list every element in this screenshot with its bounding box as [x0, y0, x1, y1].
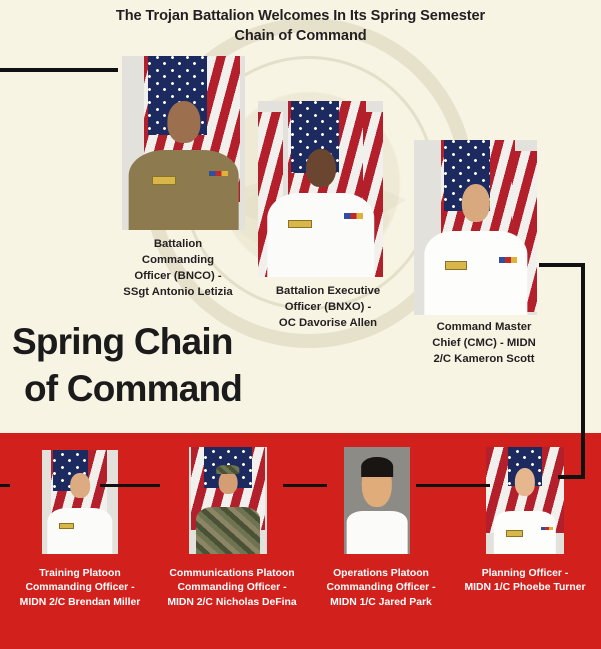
- connector-line-right-top: [539, 263, 585, 267]
- caption-cmc-line-3: 2/C Kameron Scott: [432, 351, 536, 367]
- portrait-bnxo: [258, 101, 383, 277]
- photo-card-bnco: [122, 56, 245, 230]
- portrait-plo: [486, 447, 564, 554]
- caption-bnxo-line-1: Battalion Executive: [276, 283, 380, 299]
- caption-cpco-line-2: Commanding Officer -: [167, 581, 296, 595]
- caption-bnxo-line-3: OC Davorise Allen: [276, 315, 380, 331]
- caption-bnco-line-3: Officer (BNCO) -: [123, 268, 232, 284]
- connector-line-bottom-b: [283, 484, 327, 487]
- connector-line-bottom-c: [416, 484, 490, 487]
- big-title-line-1: Spring Chain: [12, 321, 233, 362]
- chain-of-command-poster: ★ The Trojan Battalion Welcomes In Its S…: [0, 0, 601, 649]
- caption-opco-line-3: MIDN 1/C Jared Park: [326, 596, 435, 610]
- connector-line-top-left: [0, 68, 118, 72]
- photo-card-tpco: [42, 450, 118, 554]
- portrait-tpco: [42, 450, 118, 554]
- caption-tpco-line-2: Commanding Officer -: [20, 581, 141, 595]
- caption-bnco-line-4: SSgt Antonio Letizia: [123, 284, 232, 300]
- connector-line-right-vertical: [581, 263, 585, 479]
- caption-cpco-line-1: Communications Platoon: [167, 567, 296, 581]
- caption-tpco-line-1: Training Platoon: [20, 567, 141, 581]
- connector-line-right-bottom: [558, 475, 585, 479]
- photo-card-bnxo: [258, 101, 383, 277]
- portrait-opco: [344, 447, 410, 554]
- caption-opco-line-2: Commanding Officer -: [326, 581, 435, 595]
- portrait-cpco: [189, 447, 267, 554]
- photo-card-opco: [344, 447, 410, 554]
- caption-tpco: Training Platoon Commanding Officer - MI…: [20, 567, 141, 610]
- portrait-cmc: [414, 140, 537, 315]
- caption-plo-line-1: Planning Officer -: [464, 567, 585, 581]
- caption-bnxo-line-2: Officer (BNXO) -: [276, 299, 380, 315]
- caption-cpco: Communications Platoon Commanding Office…: [167, 567, 296, 610]
- big-title-line-2: of Command: [12, 365, 312, 412]
- caption-cmc-line-1: Command Master: [432, 319, 536, 335]
- caption-bnco-line-1: Battalion: [123, 236, 232, 252]
- caption-bnco: Battalion Commanding Officer (BNCO) - SS…: [123, 236, 232, 300]
- caption-opco: Operations Platoon Commanding Officer - …: [326, 567, 435, 610]
- caption-bnxo: Battalion Executive Officer (BNXO) - OC …: [276, 283, 380, 331]
- caption-tpco-line-3: MIDN 2/C Brendan Miller: [20, 596, 141, 610]
- heading-line-2: Chain of Command: [0, 26, 601, 46]
- caption-opco-line-1: Operations Platoon: [326, 567, 435, 581]
- photo-card-cmc: [414, 140, 537, 315]
- poster-big-title: Spring Chain of Command: [12, 318, 312, 412]
- caption-cpco-line-3: MIDN 2/C Nicholas DeFina: [167, 596, 296, 610]
- portrait-bnco: [122, 56, 245, 230]
- photo-card-cpco: [189, 447, 267, 554]
- heading-line-1: The Trojan Battalion Welcomes In Its Spr…: [116, 8, 485, 24]
- caption-cmc: Command Master Chief (CMC) - MIDN 2/C Ka…: [432, 319, 536, 367]
- caption-bnco-line-2: Commanding: [123, 252, 232, 268]
- poster-heading: The Trojan Battalion Welcomes In Its Spr…: [0, 0, 601, 46]
- caption-plo-line-2: MIDN 1/C Phoebe Turner: [464, 581, 585, 595]
- caption-plo: Planning Officer - MIDN 1/C Phoebe Turne…: [464, 567, 585, 596]
- photo-card-plo: [486, 447, 564, 554]
- connector-line-bottom-a: [100, 484, 160, 487]
- caption-cmc-line-2: Chief (CMC) - MIDN: [432, 335, 536, 351]
- connector-line-bottom-left-edge: [0, 484, 10, 487]
